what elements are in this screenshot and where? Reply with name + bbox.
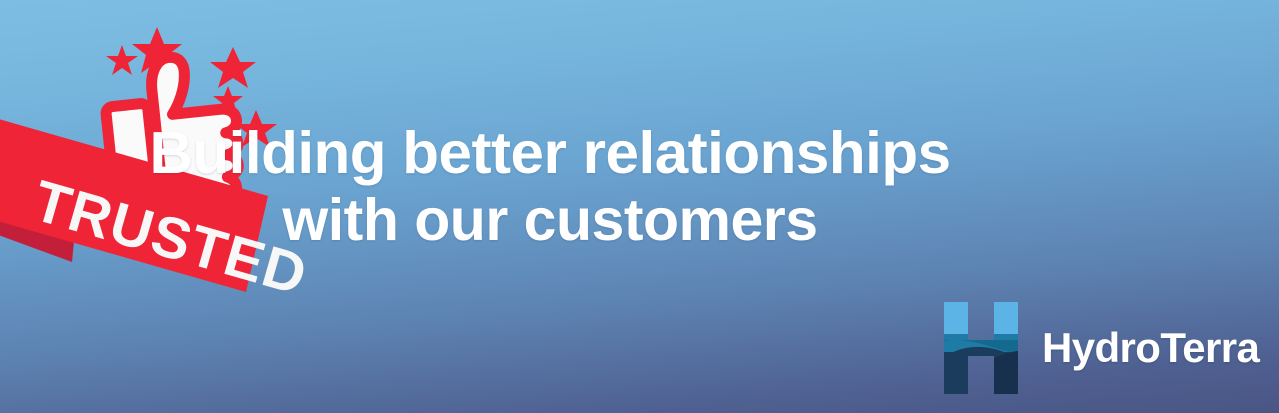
promo-banner: TRUSTED Building better relationships wi… <box>0 0 1279 413</box>
logo-wordmark: HydroTerra <box>1042 327 1259 369</box>
headline: Building better relationships with our c… <box>0 120 1100 255</box>
star-icon-2 <box>106 45 138 75</box>
headline-line-2: with our customers <box>0 187 1100 254</box>
hydroterra-logo: HydroTerra <box>938 300 1259 396</box>
hydroterra-h-monogram-icon <box>938 300 1024 396</box>
headline-line-1: Building better relationships <box>0 120 1111 187</box>
star-icon-3 <box>210 47 256 88</box>
